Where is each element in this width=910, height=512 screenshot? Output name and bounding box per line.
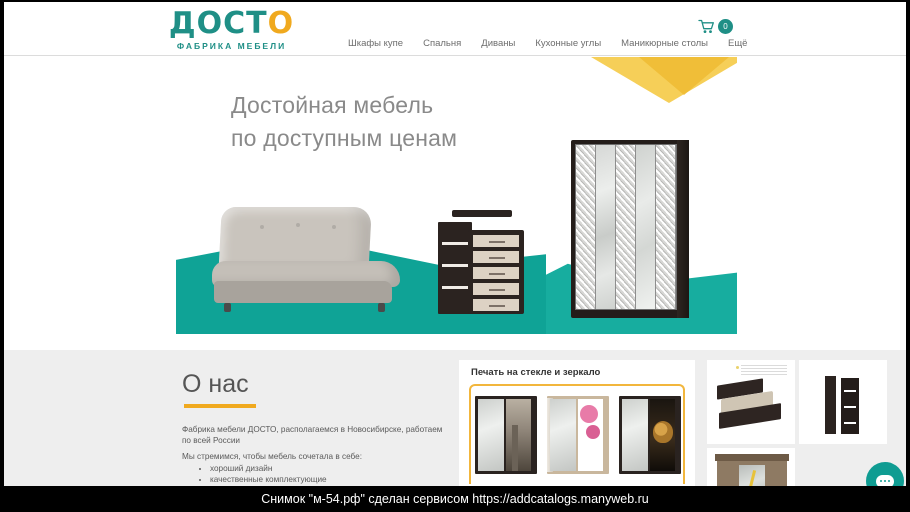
wardrobe-textured-panel [576, 145, 596, 309]
main-navigation: Шкафы купе Спальня Диваны Кухонные углы … [348, 38, 747, 49]
wardrobe-top [715, 454, 789, 461]
nav-item-kitchen-corners[interactable]: Кухонные углы [535, 38, 601, 49]
shelf-product-card[interactable] [799, 360, 887, 444]
sofa-leg [224, 303, 231, 312]
browser-page: ДОСТО ФАБРИКА МЕБЕЛИ Шкафы купе Спальня … [4, 2, 906, 486]
cart-button[interactable]: 0 [698, 19, 733, 34]
shelf-gap [844, 406, 856, 408]
shelf-image [825, 376, 861, 434]
print-wardrobe-leopard[interactable] [619, 396, 681, 474]
drawer-handle [489, 273, 505, 275]
wardrobe-mirror-left [596, 145, 616, 309]
site-header: ДОСТО ФАБРИКА МЕБЕЛИ Шкафы купе Спальня … [4, 2, 906, 56]
list-item: хороший дизайн [210, 463, 327, 474]
wardrobe-mirror [550, 399, 576, 471]
drawer-handle [489, 305, 505, 307]
hero-heading: Достойная мебель по доступным ценам [231, 89, 457, 155]
nav-item-manicure-tables[interactable]: Маникюрные столы [621, 38, 708, 49]
shelf-gap [844, 422, 856, 424]
wardrobe-side-panel [677, 140, 689, 318]
dresser-side-shelf [438, 222, 472, 314]
wardrobe-doors [575, 144, 677, 310]
dresser-drawer [472, 298, 520, 312]
hero-heading-line1: Достойная мебель [231, 89, 457, 122]
hero-heading-line2: по доступным ценам [231, 122, 457, 155]
logo-wordmark: ДОСТО [159, 9, 304, 39]
city-print-art [506, 399, 531, 471]
cart-count-badge: 0 [718, 19, 733, 34]
logo-subtitle: ФАБРИКА МЕБЕЛИ [159, 41, 304, 51]
bed-image [715, 382, 787, 432]
chat-dot [888, 480, 890, 482]
product-note-text [741, 365, 787, 377]
nav-item-sofas[interactable]: Диваны [481, 38, 515, 49]
nav-item-wardrobes[interactable]: Шкафы купе [348, 38, 403, 49]
drawer-handle [489, 289, 505, 291]
yellow-triangle-small [639, 57, 729, 95]
sofa-leg [378, 303, 385, 312]
list-item: качественные комплектующие [210, 474, 327, 485]
bed-product-card[interactable] [707, 360, 795, 444]
about-underline [184, 404, 256, 408]
shelf-gap [844, 390, 856, 392]
sofa-tuft [260, 225, 264, 229]
print-on-glass-card[interactable]: Печать на стекле и зеркало [459, 360, 695, 486]
shelf-left-column [825, 376, 836, 434]
wardrobe-textured-panel [656, 145, 676, 309]
wardrobe-textured-panel [616, 145, 636, 309]
nav-item-more[interactable]: Ещё [728, 38, 747, 49]
drawer-handle [489, 257, 505, 259]
drawer-handle [489, 241, 505, 243]
print-wardrobe-city[interactable] [475, 396, 537, 474]
about-paragraph-1: Фабрика мебели ДОСТО, располагаемся в Но… [182, 424, 447, 446]
chat-bubble-icon [876, 475, 894, 487]
nav-item-bedroom[interactable]: Спальня [423, 38, 461, 49]
watermark-bar: Снимок "м-54.рф" сделан сервисом https:/… [0, 486, 910, 512]
shelf-gap [442, 264, 468, 267]
site-logo[interactable]: ДОСТО ФАБРИКА МЕБЕЛИ [159, 9, 304, 51]
shelf-gap [442, 286, 468, 289]
print-wardrobe-floral[interactable] [547, 396, 609, 474]
dresser-drawer [472, 234, 520, 248]
screenshot-root: ДОСТО ФАБРИКА МЕБЕЛИ Шкафы купе Спальня … [0, 0, 910, 512]
wardrobe-product-card[interactable] [707, 448, 795, 486]
chat-dot [884, 480, 886, 482]
dresser-drawer [472, 282, 520, 296]
logo-last-letter: О [268, 6, 295, 41]
dresser-drawer [472, 250, 520, 264]
dresser-body [468, 230, 524, 314]
shelf-gap [442, 242, 468, 245]
hero-banner: Достойная мебель по доступным ценам [176, 57, 737, 334]
print-card-title: Печать на стекле и зеркало [471, 367, 600, 378]
about-benefits-list: хороший дизайн качественные комплектующи… [200, 463, 327, 485]
wardrobe-mirror [478, 399, 504, 471]
wardrobe-mirror-right [636, 145, 656, 309]
about-title: О нас [182, 370, 249, 399]
print-card-gallery [475, 396, 681, 474]
leopard-print-art [650, 399, 675, 471]
about-paragraph-2: Мы стремимся, чтобы мебель сочетала в се… [182, 452, 362, 461]
dresser-drawer [472, 266, 520, 280]
logo-text: ДОСТ [169, 6, 268, 41]
wardrobe-mirror [622, 399, 648, 471]
floral-print-art [578, 399, 603, 471]
sofa-tuft [332, 225, 336, 229]
hero-wardrobe-image [571, 140, 689, 318]
dresser-top-shelf [452, 210, 512, 217]
sofa-tuft [296, 223, 300, 227]
wardrobe-image [717, 458, 787, 486]
hero-sofa-image [210, 207, 402, 312]
sofa-base [214, 281, 392, 303]
chat-dot [880, 480, 882, 482]
cart-icon [698, 19, 715, 34]
hero-dresser-image [438, 204, 526, 314]
